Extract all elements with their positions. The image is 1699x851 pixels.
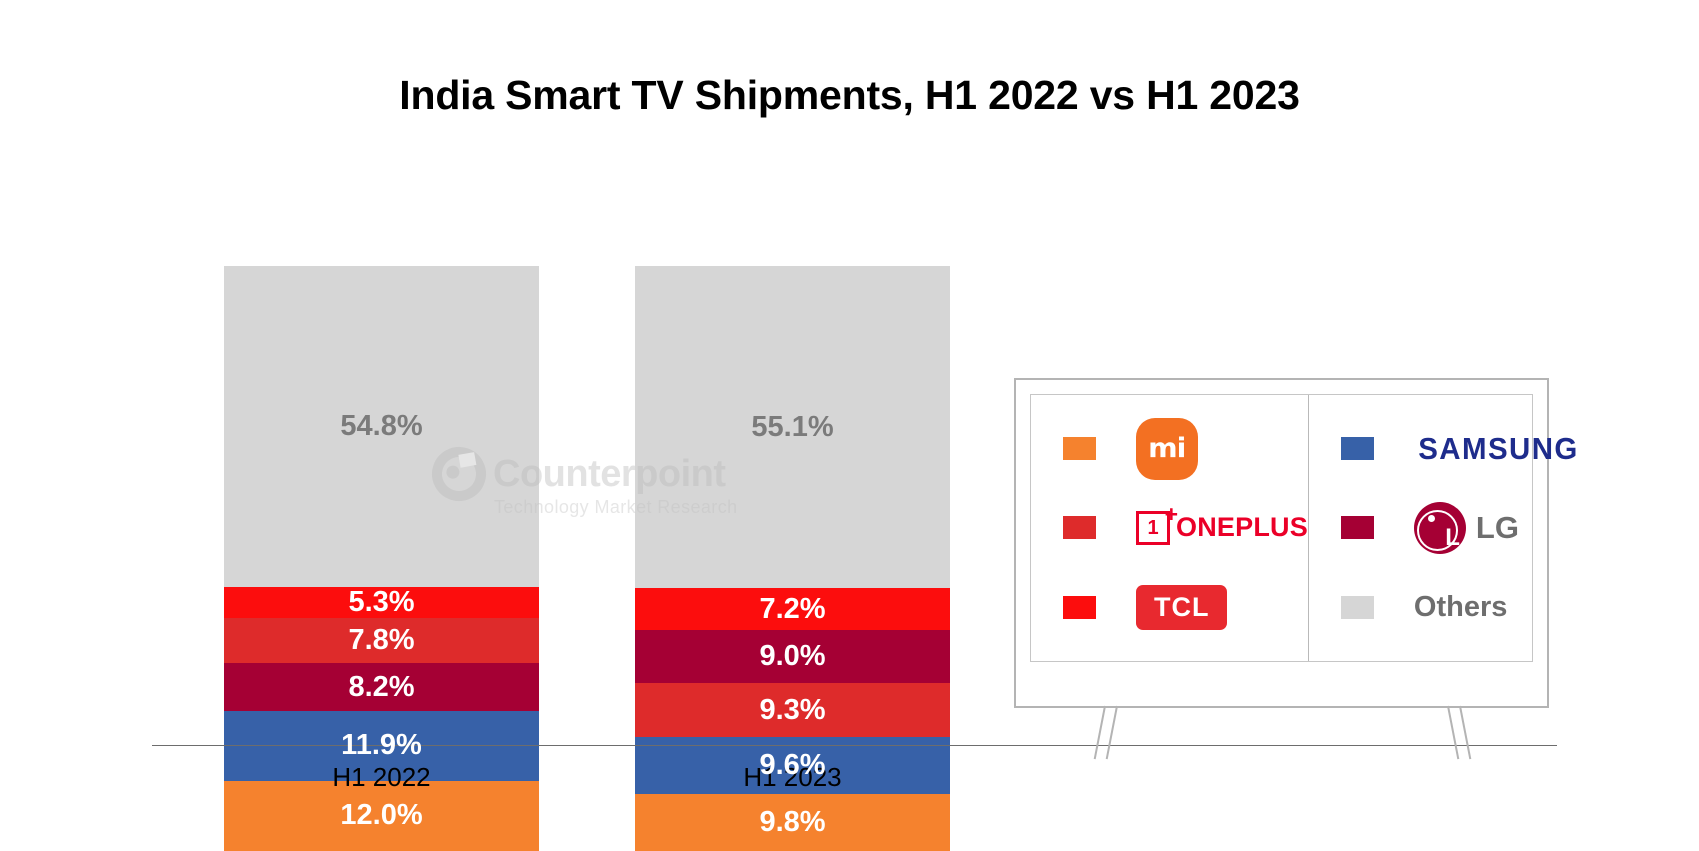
bar-segment-lg[interactable]: 8.2% xyxy=(224,663,539,711)
bar-segment-oneplus[interactable]: 7.8% xyxy=(224,618,539,664)
bar-segment-label: 9.3% xyxy=(759,696,825,725)
x-axis-label-h1-2022: H1 2022 xyxy=(224,762,539,793)
legend-item-others[interactable]: Others xyxy=(1309,571,1583,643)
legend-logo-oneplus: 1+ ONEPLUS xyxy=(1136,492,1308,564)
legend-label-xiaomi: mi xyxy=(1148,435,1185,462)
legend-column-right: SAMSUNG L LG xyxy=(1309,395,1583,661)
legend-tv-frame: mi 1+ ONEPLUS xyxy=(1014,378,1549,708)
bar-segment-label: 8.2% xyxy=(348,673,414,702)
legend-item-xiaomi[interactable]: mi xyxy=(1031,413,1308,485)
bar-segment-others[interactable]: 55.1% xyxy=(635,266,950,588)
bar-segment-lg[interactable]: 9.0% xyxy=(635,630,950,683)
legend-logo-samsung: SAMSUNG xyxy=(1414,413,1583,485)
legend-logo-others: Others xyxy=(1414,571,1507,643)
bar-segment-label: 12.0% xyxy=(340,801,422,830)
lg-face-icon: L xyxy=(1414,502,1466,554)
legend-item-oneplus[interactable]: 1+ ONEPLUS xyxy=(1031,492,1308,564)
bar-segment-oneplus[interactable]: 9.3% xyxy=(635,683,950,737)
bar-segment-label: 11.9% xyxy=(341,731,422,760)
tcl-logo-icon: TCL xyxy=(1136,585,1227,630)
bar-segment-label: 7.2% xyxy=(759,595,825,624)
legend-logo-lg: L LG xyxy=(1414,492,1519,564)
chart-canvas: India Smart TV Shipments, H1 2022 vs H1 … xyxy=(0,0,1699,851)
bar-segment-others[interactable]: 54.8% xyxy=(224,266,539,587)
mi-logo-icon: mi xyxy=(1136,418,1198,480)
legend-item-samsung[interactable]: SAMSUNG xyxy=(1309,413,1583,485)
bar-segment-tcl[interactable]: 7.2% xyxy=(635,588,950,630)
oneplus-mark-icon: 1+ xyxy=(1136,511,1170,545)
tv-stand-leg-left xyxy=(1094,706,1106,759)
tv-stand-leg-right-inner xyxy=(1447,706,1459,759)
legend-label-tcl: TCL xyxy=(1154,592,1209,622)
legend-logo-xiaomi: mi xyxy=(1136,413,1198,485)
legend-label-samsung: SAMSUNG xyxy=(1418,433,1579,464)
plot-area: 54.8% 5.3% 7.8% 8.2% 11.9% 12.0% 55.1% xyxy=(0,0,1699,851)
legend-label-lg: LG xyxy=(1476,512,1519,543)
legend-swatch-others xyxy=(1341,596,1374,619)
tv-stand-leg-right xyxy=(1459,706,1471,759)
bar-segment-label: 54.8% xyxy=(340,412,422,441)
legend-swatch-samsung xyxy=(1341,437,1374,460)
lg-mark-text: L xyxy=(1445,526,1460,550)
legend-swatch-oneplus xyxy=(1063,516,1096,539)
bar-segment-label: 9.8% xyxy=(759,808,825,837)
bar-segment-label: 9.0% xyxy=(759,642,825,671)
bar-segment-label: 55.1% xyxy=(751,413,833,442)
legend-item-lg[interactable]: L LG xyxy=(1309,492,1583,564)
plus-icon: + xyxy=(1165,503,1178,526)
legend-item-tcl[interactable]: TCL xyxy=(1031,571,1308,643)
legend-label-others: Others xyxy=(1414,593,1507,622)
bar-segment-label: 9.6% xyxy=(759,751,825,780)
bar-segment-label: 5.3% xyxy=(348,588,414,617)
bar-segment-label: 7.8% xyxy=(348,626,414,655)
legend-swatch-lg xyxy=(1341,516,1374,539)
legend-column-left: mi 1+ ONEPLUS xyxy=(1031,395,1309,661)
bar-segment-xiaomi[interactable]: 9.8% xyxy=(635,794,950,851)
legend-logo-tcl: TCL xyxy=(1136,571,1227,643)
legend-swatch-tcl xyxy=(1063,596,1096,619)
lg-eye-icon xyxy=(1428,515,1435,522)
tv-stand-leg-left-inner xyxy=(1106,706,1118,759)
legend-label-oneplus: ONEPLUS xyxy=(1176,512,1308,543)
legend-swatch-xiaomi xyxy=(1063,437,1096,460)
tv-screen: mi 1+ ONEPLUS xyxy=(1030,394,1533,662)
bar-segment-tcl[interactable]: 5.3% xyxy=(224,587,539,618)
